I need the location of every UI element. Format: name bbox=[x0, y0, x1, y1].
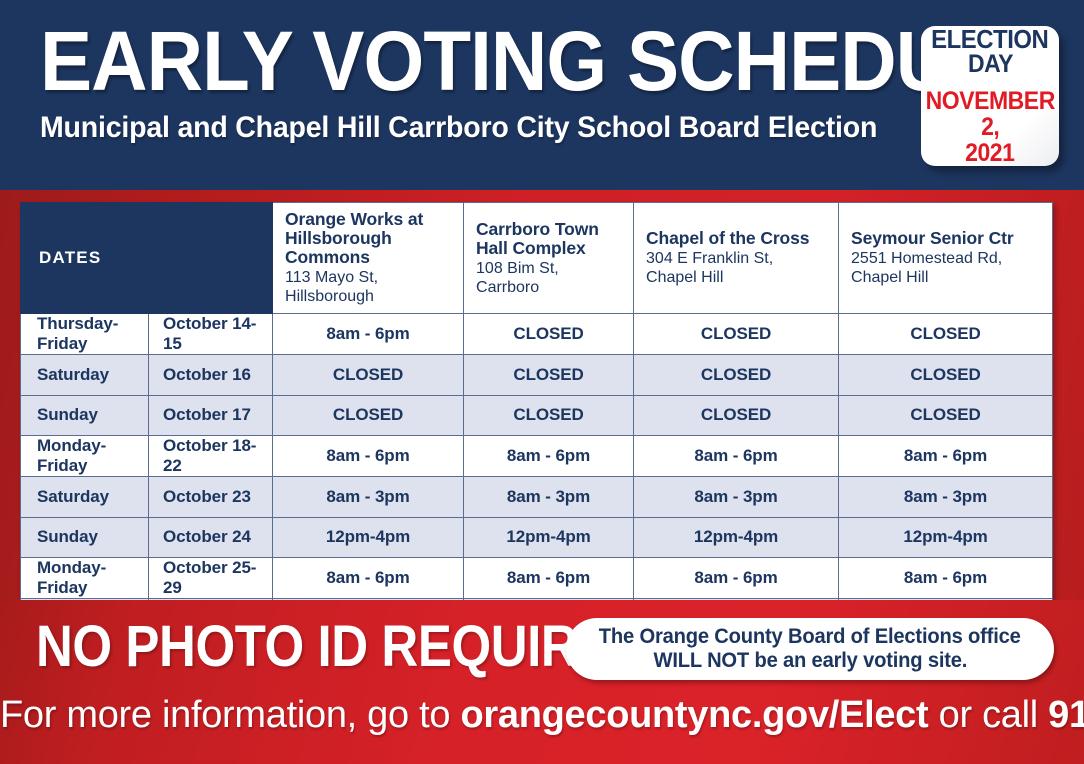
cell-hours-location-3: 8am - 6pm bbox=[839, 558, 1053, 599]
cell-hours-location-1: CLOSED bbox=[464, 395, 634, 436]
poster-root: EARLY VOTING SCHEDULE Municipal and Chap… bbox=[0, 0, 1084, 764]
more-info-mid: or call bbox=[928, 694, 1048, 736]
cell-date: October 16 bbox=[149, 355, 273, 396]
poster-footer: NO PHOTO ID REQUIRED The Orange County B… bbox=[0, 600, 1084, 764]
location-name-2: Chapel of the Cross bbox=[646, 229, 828, 248]
elections-phone-number[interactable]: 919-245-2350 bbox=[1048, 694, 1084, 736]
cell-date: October 17 bbox=[149, 395, 273, 436]
page-subtitle: Municipal and Chapel Hill Carrboro City … bbox=[40, 106, 867, 146]
location-address-3: 2551 Homestead Rd, Chapel Hill bbox=[851, 248, 1042, 287]
cell-hours-location-0: CLOSED bbox=[273, 355, 464, 396]
cell-hours-location-2: 12pm-4pm bbox=[634, 517, 839, 558]
cell-day: Monday-Friday bbox=[21, 558, 149, 599]
location-name-3: Seymour Senior Ctr bbox=[851, 229, 1042, 248]
table-head: DATES Orange Works at Hillsborough Commo… bbox=[21, 203, 1053, 314]
cell-day: Monday-Friday bbox=[21, 436, 149, 477]
cell-hours-location-0: 8am - 3pm bbox=[273, 477, 464, 518]
page-title: EARLY VOTING SCHEDULE bbox=[40, 16, 849, 106]
cell-hours-location-0: 8am - 6pm bbox=[273, 314, 464, 355]
cell-hours-location-3: CLOSED bbox=[839, 355, 1053, 396]
cell-day: Sunday bbox=[21, 395, 149, 436]
cell-day: Sunday bbox=[21, 517, 149, 558]
cell-hours-location-3: CLOSED bbox=[839, 314, 1053, 355]
table-row: SaturdayOctober 238am - 3pm8am - 3pm8am … bbox=[21, 477, 1053, 518]
location-address-1: 108 Bim St, Carrboro bbox=[476, 258, 623, 297]
column-header-location-0: Orange Works at Hillsborough Commons 113… bbox=[273, 203, 464, 314]
cell-hours-location-3: CLOSED bbox=[839, 395, 1053, 436]
cell-day: Thursday-Friday bbox=[21, 314, 149, 355]
cell-date: October 23 bbox=[149, 477, 273, 518]
table-header-row: DATES Orange Works at Hillsborough Commo… bbox=[21, 203, 1053, 314]
election-day-badge: ELECTION DAY NOVEMBER 2, 2021 bbox=[921, 26, 1059, 166]
badge-election-label: ELECTION bbox=[931, 27, 1048, 52]
table-row: SundayOctober 2412pm-4pm12pm-4pm12pm-4pm… bbox=[21, 517, 1053, 558]
more-info-prefix: For more information, go to bbox=[0, 694, 460, 736]
cell-hours-location-1: CLOSED bbox=[464, 355, 634, 396]
cell-hours-location-1: 8am - 6pm bbox=[464, 558, 634, 599]
cell-hours-location-0: 8am - 6pm bbox=[273, 558, 464, 599]
cell-hours-location-1: 8am - 6pm bbox=[464, 436, 634, 477]
column-header-dates: DATES bbox=[21, 203, 273, 314]
cell-hours-location-2: CLOSED bbox=[634, 355, 839, 396]
table-row: Monday-FridayOctober 25-298am - 6pm8am -… bbox=[21, 558, 1053, 599]
cell-hours-location-3: 8am - 6pm bbox=[839, 436, 1053, 477]
cell-date: October 14-15 bbox=[149, 314, 273, 355]
cell-hours-location-2: 8am - 6pm bbox=[634, 558, 839, 599]
table-row: SundayOctober 17CLOSEDCLOSEDCLOSEDCLOSED bbox=[21, 395, 1053, 436]
column-header-location-2: Chapel of the Cross 304 E Franklin St, C… bbox=[634, 203, 839, 314]
cell-hours-location-1: 12pm-4pm bbox=[464, 517, 634, 558]
board-of-elections-note: The Orange County Board of Elections off… bbox=[566, 618, 1054, 680]
cell-hours-location-3: 12pm-4pm bbox=[839, 517, 1053, 558]
cell-day: Saturday bbox=[21, 477, 149, 518]
no-photo-id-headline: NO PHOTO ID REQUIRED bbox=[36, 616, 647, 678]
column-header-location-1: Carrboro Town Hall Complex 108 Bim St, C… bbox=[464, 203, 634, 314]
note-line-2: WILL NOT be an early voting site. bbox=[653, 649, 967, 673]
cell-date: October 25-29 bbox=[149, 558, 273, 599]
location-name-1: Carrboro Town Hall Complex bbox=[476, 220, 623, 258]
more-information-line: For more information, go to orangecounty… bbox=[0, 692, 1084, 738]
cell-hours-location-2: 8am - 6pm bbox=[634, 436, 839, 477]
cell-date: October 24 bbox=[149, 517, 273, 558]
cell-hours-location-3: 8am - 3pm bbox=[839, 477, 1053, 518]
cell-hours-location-0: 12pm-4pm bbox=[273, 517, 464, 558]
cell-day: Saturday bbox=[21, 355, 149, 396]
location-name-0: Orange Works at Hillsborough Commons bbox=[285, 210, 453, 267]
location-address-2: 304 E Franklin St, Chapel Hill bbox=[646, 248, 828, 287]
cell-hours-location-1: 8am - 3pm bbox=[464, 477, 634, 518]
header-text-block: EARLY VOTING SCHEDULE Municipal and Chap… bbox=[40, 16, 910, 146]
cell-hours-location-1: CLOSED bbox=[464, 314, 634, 355]
note-line-1: The Orange County Board of Elections off… bbox=[599, 625, 1021, 649]
schedule-table-wrapper: DATES Orange Works at Hillsborough Commo… bbox=[20, 202, 1052, 640]
column-header-location-3: Seymour Senior Ctr 2551 Homestead Rd, Ch… bbox=[839, 203, 1053, 314]
cell-date: October 18-22 bbox=[149, 436, 273, 477]
early-voting-schedule-table: DATES Orange Works at Hillsborough Commo… bbox=[20, 202, 1053, 640]
cell-hours-location-2: CLOSED bbox=[634, 314, 839, 355]
table-body: Thursday-FridayOctober 14-158am - 6pmCLO… bbox=[21, 314, 1053, 640]
badge-day-label: DAY bbox=[967, 52, 1012, 77]
table-row: Monday-FridayOctober 18-228am - 6pm8am -… bbox=[21, 436, 1053, 477]
badge-date-line2: 2021 bbox=[965, 140, 1014, 166]
cell-hours-location-2: CLOSED bbox=[634, 395, 839, 436]
cell-hours-location-2: 8am - 3pm bbox=[634, 477, 839, 518]
cell-hours-location-0: 8am - 6pm bbox=[273, 436, 464, 477]
cell-hours-location-0: CLOSED bbox=[273, 395, 464, 436]
poster-header: EARLY VOTING SCHEDULE Municipal and Chap… bbox=[0, 0, 1084, 190]
badge-date-line1: NOVEMBER 2, bbox=[925, 88, 1054, 140]
location-address-0: 113 Mayo St, Hillsborough bbox=[285, 267, 453, 306]
elections-website-link[interactable]: orangecountync.gov/Elect bbox=[460, 694, 928, 736]
table-row: SaturdayOctober 16CLOSEDCLOSEDCLOSEDCLOS… bbox=[21, 355, 1053, 396]
table-row: Thursday-FridayOctober 14-158am - 6pmCLO… bbox=[21, 314, 1053, 355]
